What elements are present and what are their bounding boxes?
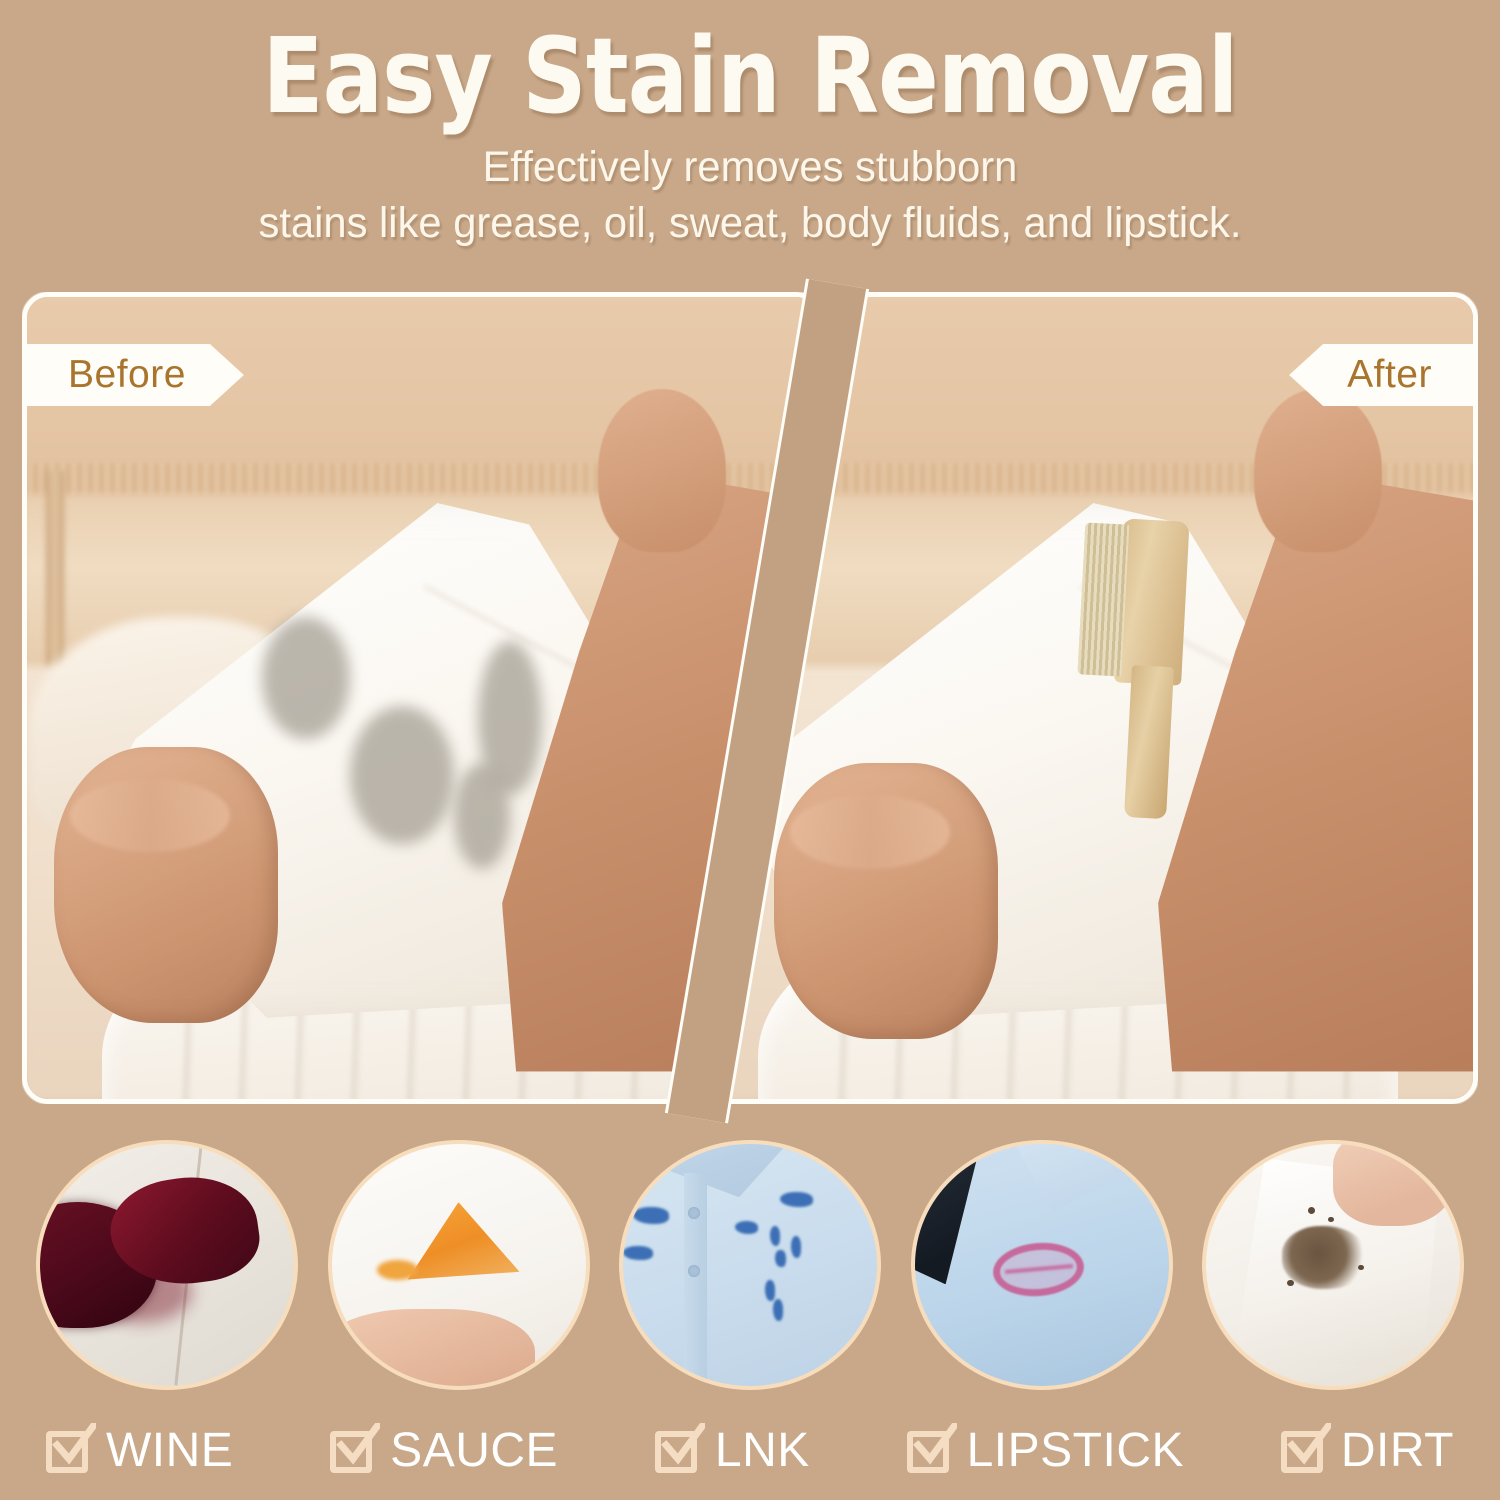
after-badge: After [1289, 344, 1474, 406]
ink-splatter [775, 1250, 785, 1267]
stain-type-sauce [328, 1140, 590, 1410]
holding-hand [328, 1309, 535, 1390]
ink-splatter [791, 1236, 801, 1258]
subtitle: Effectively removes stubborn stains like… [23, 140, 1478, 252]
before-after-comparison: Before After [22, 292, 1478, 1104]
lipstick-thumbnail [911, 1140, 1173, 1390]
sauce-splash [377, 1260, 418, 1279]
header: Easy Stain Removal Effectively removes s… [0, 0, 1500, 252]
scrub-brush [1070, 517, 1189, 814]
page-title: Easy Stain Removal [105, 18, 1395, 134]
stain-spot [454, 763, 510, 869]
ink-splatter [735, 1221, 758, 1233]
after-label: After [1347, 353, 1432, 397]
shirt-collar [638, 1140, 795, 1197]
label-lipstick: LIPSTICK [907, 1408, 1184, 1492]
ink-splatter [773, 1299, 783, 1321]
label-dirt: DIRT [1281, 1408, 1454, 1492]
dirt-speck [1287, 1280, 1294, 1286]
stain-type-lipstick [911, 1140, 1173, 1410]
stain-type-wine [36, 1140, 298, 1410]
label-sauce: SAUCE [330, 1408, 558, 1492]
brush-bristles [1077, 523, 1129, 677]
label-ink: LNK [655, 1408, 810, 1492]
stain-spot [262, 617, 350, 739]
label-text: DIRT [1341, 1423, 1454, 1478]
label-text: LIPSTICK [967, 1423, 1184, 1478]
ink-thumbnail [619, 1140, 881, 1390]
checkbox-checked-icon [655, 1427, 701, 1473]
label-wine: WINE [46, 1408, 233, 1492]
knuckles [70, 779, 230, 852]
ink-splatter [623, 1246, 653, 1261]
ink-splatter [780, 1192, 813, 1207]
ink-splatter [765, 1280, 775, 1302]
label-text: WINE [106, 1423, 233, 1478]
shirt-placket [684, 1173, 707, 1386]
before-label: Before [68, 353, 186, 397]
label-text: SAUCE [390, 1423, 558, 1478]
top-hand [1254, 389, 1382, 551]
ink-splatter [633, 1207, 669, 1224]
lipstick-kiss-mark [991, 1239, 1087, 1300]
stain-type-ink [619, 1140, 881, 1410]
stain-type-dirt [1202, 1140, 1464, 1410]
label-text: LNK [715, 1423, 810, 1478]
top-hand [598, 389, 726, 551]
subtitle-line-1: Effectively removes stubborn [23, 140, 1478, 196]
subtitle-line-2: stains like grease, oil, sweat, body flu… [23, 196, 1478, 252]
sauce-stain [398, 1202, 525, 1299]
brush-handle [1124, 666, 1173, 820]
sauce-thumbnail [328, 1140, 590, 1390]
stain-type-labels: WINE SAUCE LNK LIPSTICK [0, 1408, 1500, 1492]
ink-splatter [770, 1226, 780, 1245]
checkbox-checked-icon [330, 1427, 376, 1473]
before-badge: Before [26, 344, 244, 406]
shirt-collar [996, 1140, 1138, 1212]
stain-spot [350, 706, 454, 844]
wine-thumbnail [36, 1140, 298, 1390]
checkbox-checked-icon [1281, 1427, 1327, 1473]
checkbox-checked-icon [907, 1427, 953, 1473]
stain-type-gallery [0, 1140, 1500, 1410]
knuckles [790, 795, 950, 868]
dirt-thumbnail [1202, 1140, 1464, 1390]
dirt-patch [1282, 1226, 1368, 1289]
checkbox-checked-icon [46, 1427, 92, 1473]
holding-hand [1333, 1140, 1455, 1226]
